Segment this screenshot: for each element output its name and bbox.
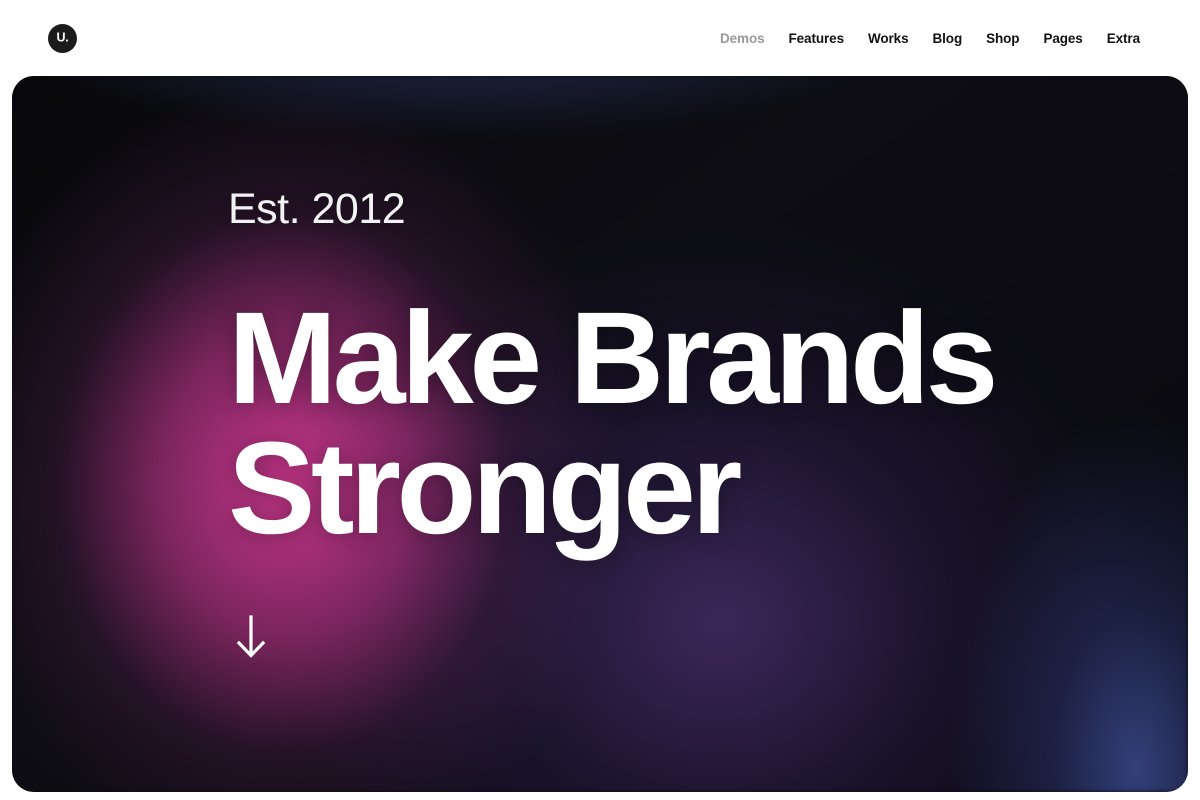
hero-card: Est. 2012 Make Brands Stronger: [12, 76, 1188, 792]
brand-logo[interactable]: U.: [48, 24, 77, 53]
nav-item-works[interactable]: Works: [856, 31, 921, 46]
hero-title-line-2: Stronger: [228, 423, 1048, 553]
site-header: U. Demos Features Works Blog Shop Pages …: [0, 0, 1200, 76]
nav-item-demos[interactable]: Demos: [708, 31, 777, 46]
hero-title: Make Brands Stronger: [228, 293, 1048, 552]
brand-monogram-icon: U.: [57, 32, 69, 45]
scroll-down-button[interactable]: [228, 614, 274, 660]
arrow-down-icon: [234, 615, 268, 659]
nav-item-shop[interactable]: Shop: [974, 31, 1031, 46]
nav-item-extra[interactable]: Extra: [1095, 31, 1152, 46]
nav-item-blog[interactable]: Blog: [921, 31, 975, 46]
nav-item-pages[interactable]: Pages: [1031, 31, 1094, 46]
hero-title-line-1: Make Brands: [228, 293, 1048, 423]
main-nav: Demos Features Works Blog Shop Pages Ext…: [708, 0, 1152, 76]
hero-content: Est. 2012 Make Brands Stronger: [12, 76, 1188, 792]
nav-item-features[interactable]: Features: [777, 31, 856, 46]
hero-eyebrow: Est. 2012: [228, 188, 1188, 231]
